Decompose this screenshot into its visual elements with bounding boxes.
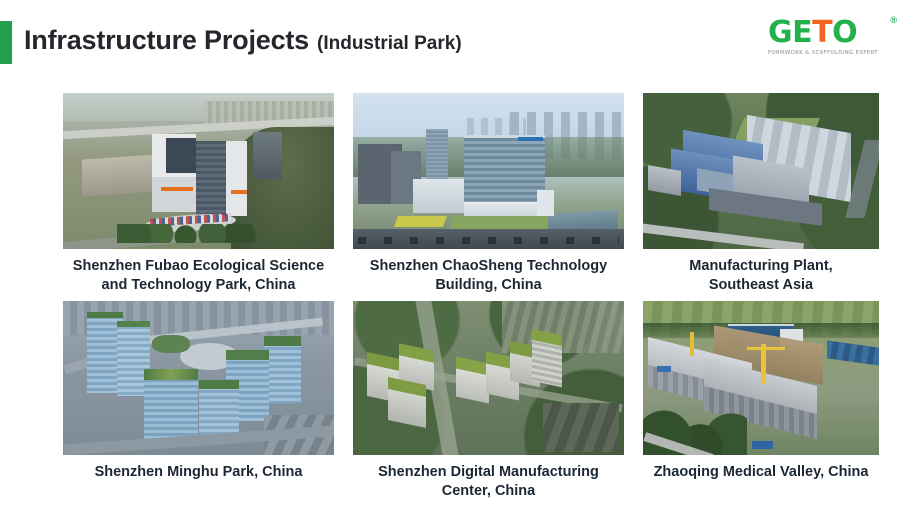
project-card-6[interactable]: Zhaoqing Medical Valley, China xyxy=(643,301,879,501)
slide-infrastructure-projects: Infrastructure Projects (Industrial Park… xyxy=(0,0,910,510)
project-caption-3: Manufacturing Plant, Southeast Asia xyxy=(643,249,879,295)
photo-digital-manufacturing-center xyxy=(353,301,624,455)
project-card-3[interactable]: Manufacturing Plant, Southeast Asia xyxy=(643,93,879,295)
project-card-1[interactable]: Shenzhen Fubao Ecological Science and Te… xyxy=(63,93,334,295)
registered-trademark-icon: ® xyxy=(890,15,897,25)
project-card-2[interactable]: Shenzhen ChaoSheng Technology Building, … xyxy=(353,93,624,295)
project-caption-6: Zhaoqing Medical Valley, China xyxy=(643,455,879,482)
page-title-main: Infrastructure Projects xyxy=(24,18,309,62)
project-card-5[interactable]: Shenzhen Digital Manufacturing Center, C… xyxy=(353,301,624,501)
green-accent-bar xyxy=(0,21,12,64)
project-grid: Shenzhen Fubao Ecological Science and Te… xyxy=(63,93,863,501)
geto-logo: GETO ® FORMWORK & SCAFFOLDING EXPERT xyxy=(768,18,888,64)
geto-logo-mark: GETO ® xyxy=(768,18,888,48)
logo-letters-ge: GE xyxy=(768,15,812,50)
project-caption-1: Shenzhen Fubao Ecological Science and Te… xyxy=(63,249,334,295)
logo-letter-t: T xyxy=(812,15,832,50)
project-card-4[interactable]: Shenzhen Minghu Park, China xyxy=(63,301,334,501)
logo-tagline: FORMWORK & SCAFFOLDING EXPERT xyxy=(768,50,888,56)
logo-letter-o: O xyxy=(832,15,857,50)
photo-chaosheng-technology-building xyxy=(353,93,624,249)
page-title: Infrastructure Projects (Industrial Park… xyxy=(24,18,462,66)
photo-manufacturing-plant-southeast-asia xyxy=(643,93,879,249)
photo-fubao-eco-science-technology-park xyxy=(63,93,334,249)
project-caption-5: Shenzhen Digital Manufacturing Center, C… xyxy=(353,455,624,501)
project-caption-2: Shenzhen ChaoSheng Technology Building, … xyxy=(353,249,624,295)
page-title-subtitle: (Industrial Park) xyxy=(317,22,462,66)
photo-minghu-park xyxy=(63,301,334,455)
photo-zhaoqing-medical-valley xyxy=(643,301,879,455)
project-caption-4: Shenzhen Minghu Park, China xyxy=(63,455,334,482)
